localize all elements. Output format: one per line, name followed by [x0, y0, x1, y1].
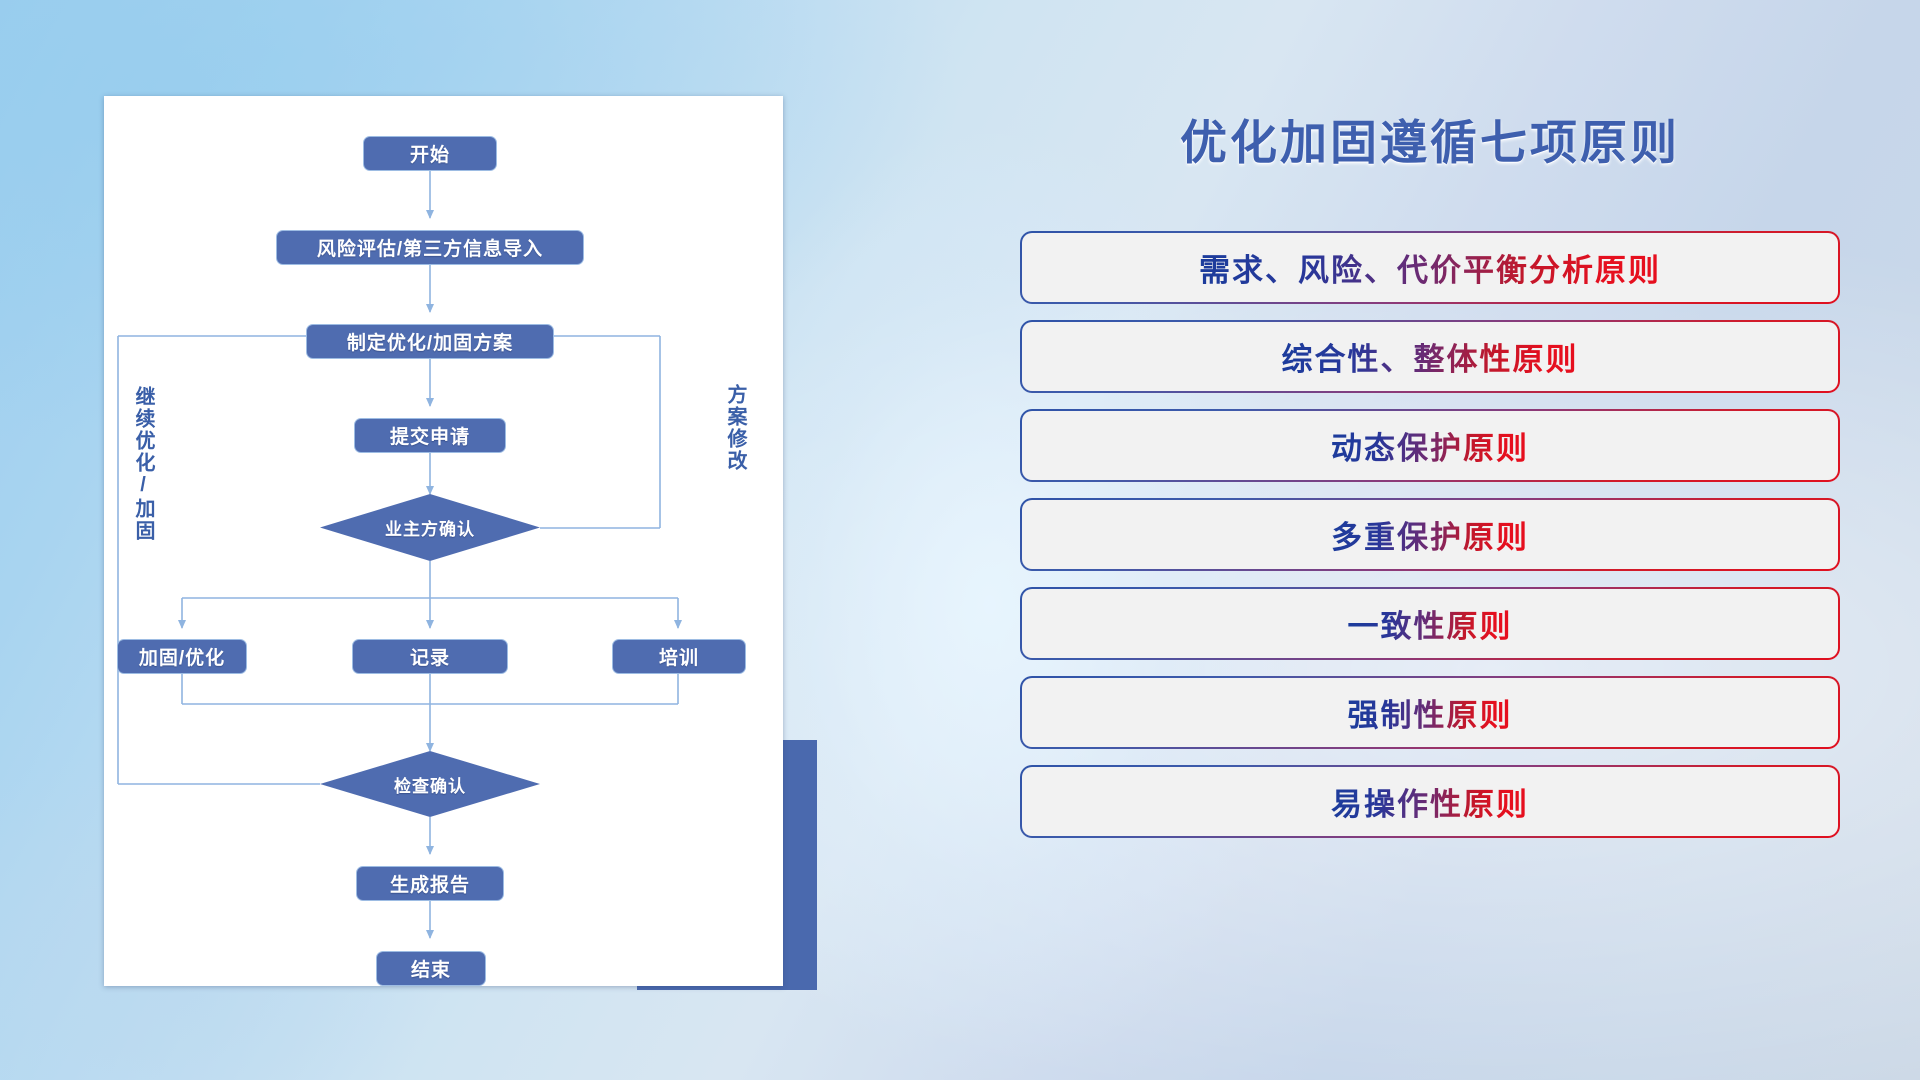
- flow-node-make-plan-label: 制定优化/加固方案: [347, 328, 513, 355]
- principle-item-label: 易操作性原则: [1331, 779, 1529, 824]
- principles-panel: 优化加固遵循七项原则 需求、风险、代价平衡分析原则 综合性、整体性原则 动态保护…: [1020, 104, 1840, 1004]
- principle-item[interactable]: 强制性原则: [1020, 676, 1840, 749]
- flow-edge-label-continue-optimize: 继续优化/加固: [132, 386, 153, 542]
- principle-item-inner: 强制性原则: [1022, 678, 1838, 747]
- principle-item-label: 强制性原则: [1348, 690, 1513, 735]
- principle-item[interactable]: 一致性原则: [1020, 587, 1840, 660]
- flow-node-end[interactable]: 结束: [376, 951, 486, 986]
- principle-item-label: 动态保护原则: [1331, 423, 1529, 468]
- principle-item-label: 需求、风险、代价平衡分析原则: [1199, 245, 1661, 290]
- flow-node-make-plan[interactable]: 制定优化/加固方案: [306, 324, 554, 359]
- flow-node-training-label: 培训: [659, 643, 699, 670]
- flow-node-generate-report[interactable]: 生成报告: [356, 866, 504, 901]
- slide-canvas: 开始 风险评估/第三方信息导入 制定优化/加固方案 提交申请 业主方确认 加固/…: [0, 0, 1920, 1080]
- principle-item-label: 综合性、整体性原则: [1282, 334, 1579, 379]
- flow-node-reinforce-label: 加固/优化: [139, 643, 225, 670]
- flow-node-start[interactable]: 开始: [363, 136, 497, 171]
- flow-decision-inspection-label: 检查确认: [394, 772, 466, 797]
- flowchart-card: 开始 风险评估/第三方信息导入 制定优化/加固方案 提交申请 业主方确认 加固/…: [104, 96, 783, 986]
- flow-node-risk-assessment-label: 风险评估/第三方信息导入: [317, 234, 543, 261]
- flow-node-generate-report-label: 生成报告: [390, 870, 470, 897]
- flow-decision-owner-confirm[interactable]: 业主方确认: [320, 494, 540, 561]
- flow-node-submit-application-label: 提交申请: [390, 422, 470, 449]
- principle-item[interactable]: 多重保护原则: [1020, 498, 1840, 571]
- flow-node-submit-application[interactable]: 提交申请: [354, 418, 506, 453]
- flow-node-record-label: 记录: [410, 643, 450, 670]
- flowchart-canvas: 开始 风险评估/第三方信息导入 制定优化/加固方案 提交申请 业主方确认 加固/…: [104, 96, 783, 986]
- flow-node-record[interactable]: 记录: [352, 639, 508, 674]
- flow-node-reinforce[interactable]: 加固/优化: [117, 639, 247, 674]
- principle-item-label: 多重保护原则: [1331, 512, 1529, 557]
- flow-decision-inspection[interactable]: 检查确认: [320, 751, 540, 817]
- principle-item-inner: 综合性、整体性原则: [1022, 322, 1838, 391]
- panel-title: 优化加固遵循七项原则: [1020, 104, 1840, 173]
- flow-node-risk-assessment[interactable]: 风险评估/第三方信息导入: [276, 230, 584, 265]
- principle-item-inner: 一致性原则: [1022, 589, 1838, 658]
- flow-node-end-label: 结束: [411, 955, 451, 982]
- principle-item-inner: 动态保护原则: [1022, 411, 1838, 480]
- principle-item[interactable]: 易操作性原则: [1020, 765, 1840, 838]
- principle-item[interactable]: 综合性、整体性原则: [1020, 320, 1840, 393]
- principle-item-inner: 易操作性原则: [1022, 767, 1838, 836]
- principle-item-label: 一致性原则: [1348, 601, 1513, 646]
- principle-item[interactable]: 动态保护原则: [1020, 409, 1840, 482]
- flow-edge-label-plan-revision: 方案修改: [724, 384, 745, 472]
- flow-node-start-label: 开始: [410, 140, 450, 167]
- flow-decision-owner-confirm-label: 业主方确认: [385, 515, 475, 540]
- principle-item-inner: 多重保护原则: [1022, 500, 1838, 569]
- principle-item[interactable]: 需求、风险、代价平衡分析原则: [1020, 231, 1840, 304]
- flow-node-training[interactable]: 培训: [612, 639, 746, 674]
- principle-item-inner: 需求、风险、代价平衡分析原则: [1022, 233, 1838, 302]
